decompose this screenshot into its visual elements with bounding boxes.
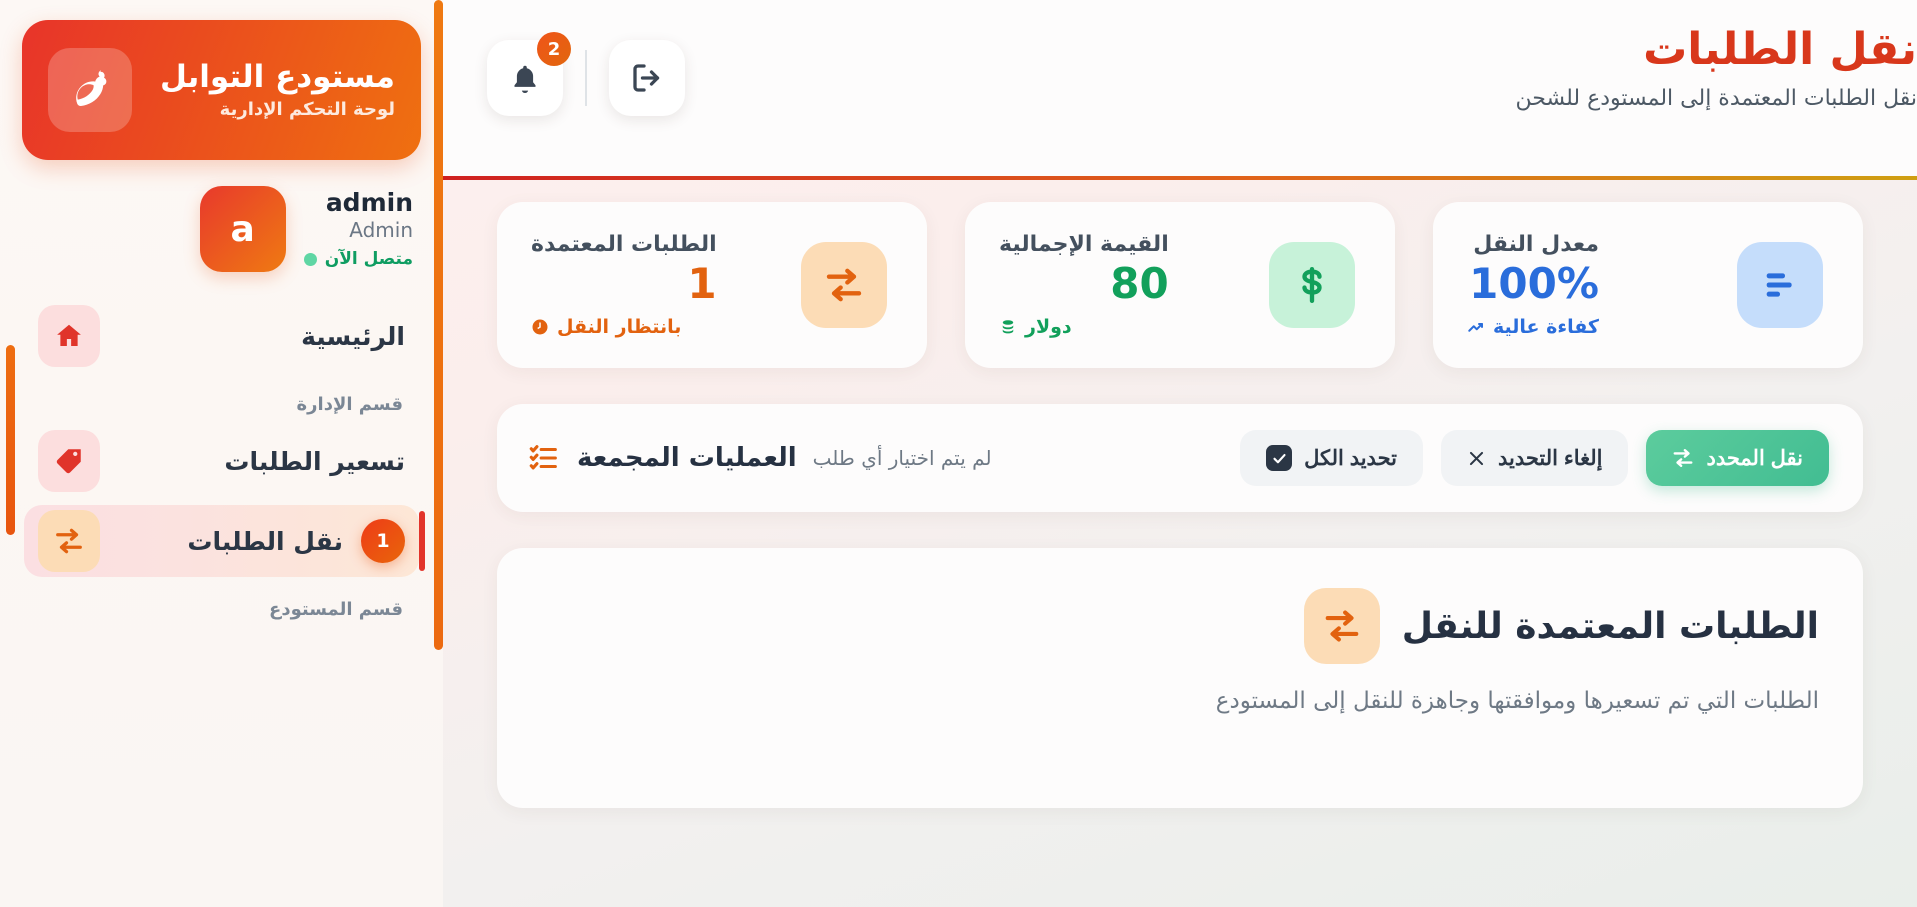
- sidebar-item-label: نقل الطلبات: [118, 527, 343, 556]
- header-divider: [585, 50, 587, 106]
- stat-value: 100%: [1467, 261, 1599, 307]
- transfer-icon: [1304, 588, 1380, 664]
- stat-foot-text: بانتظار النقل: [557, 316, 681, 338]
- profile-role: Admin: [304, 218, 413, 242]
- clock-icon: [531, 318, 549, 336]
- stat-label: معدل النقل: [1467, 232, 1599, 257]
- approved-orders-subtitle: الطلبات التي تم تسعيرها وموافقتها وجاهزة…: [541, 688, 1819, 714]
- checkbox-icon: [1266, 445, 1292, 471]
- page-title: نقل الطلبات: [743, 26, 1917, 74]
- stat-card-transfer-rate: معدل النقل 100% كفاءة عالية: [1433, 202, 1863, 368]
- stat-card-total-value: القيمة الإجمالية 80 دولار: [965, 202, 1395, 368]
- sidebar-item-transfer-orders[interactable]: 1 نقل الطلبات: [24, 505, 419, 577]
- page-subtitle: نقل الطلبات المعتمدة إلى المستودع للشحن: [743, 86, 1917, 111]
- header-actions: 2: [443, 26, 685, 116]
- sidebar-item-badge: 1: [361, 519, 405, 563]
- stats-row: معدل النقل 100% كفاءة عالية القيمة الإجم…: [497, 202, 1863, 368]
- brand-subtitle: لوحة التحكم الإدارية: [150, 99, 395, 120]
- profile-status-text: متصل الآن: [325, 249, 413, 269]
- online-status-dot: [304, 253, 317, 266]
- dollar-icon: [1269, 242, 1355, 328]
- sidebar-item-label: الرئيسية: [118, 322, 405, 351]
- stat-card-approved-orders: الطلبات المعتمدة 1 بانتظار النقل: [497, 202, 927, 368]
- transfer-icon: [38, 510, 100, 572]
- app-root: مستودع التوابل لوحة التحكم الإدارية admi…: [0, 0, 1917, 907]
- bulk-title: العمليات المجمعة: [577, 443, 797, 473]
- avatar[interactable]: a: [200, 186, 286, 272]
- sidebar-item-order-pricing[interactable]: تسعير الطلبات: [24, 425, 419, 497]
- top-header: 2 نقل الطلبات نقل الطلبات المعتمدة إلى ا…: [443, 0, 1917, 180]
- select-all-button[interactable]: تحديد الكل: [1240, 430, 1423, 486]
- stat-label: القيمة الإجمالية: [999, 232, 1169, 257]
- bulk-buttons: نقل المحدد إلغاء التحديد تحديد الكل: [1240, 430, 1829, 486]
- close-icon: [1467, 449, 1486, 468]
- coins-icon: [999, 318, 1017, 336]
- tag-icon: [38, 430, 100, 492]
- sidebar-brand-header: مستودع التوابل لوحة التحكم الإدارية: [22, 20, 421, 160]
- chart-bar-icon: [1737, 242, 1823, 328]
- notifications-button[interactable]: 2: [487, 40, 563, 116]
- bulk-actions-toolbar: نقل المحدد إلغاء التحديد تحديد الكل: [497, 404, 1863, 512]
- page-content: معدل النقل 100% كفاءة عالية القيمة الإجم…: [443, 180, 1917, 808]
- stat-foot-text: كفاءة عالية: [1493, 316, 1599, 338]
- sidebar-nav: الرئيسية قسم الإدارة تسعير الطلبات 1 نقل…: [22, 292, 421, 630]
- clear-selection-label: إلغاء التحديد: [1498, 446, 1603, 471]
- approved-orders-title: الطلبات المعتمدة للنقل: [1402, 606, 1819, 647]
- stat-value: 80: [999, 261, 1169, 307]
- trend-up-icon: [1467, 318, 1485, 336]
- user-profile[interactable]: admin Admin متصل الآن a: [22, 160, 421, 292]
- transfer-icon: [801, 242, 887, 328]
- transfer-icon: [1672, 447, 1694, 469]
- bulk-selection-note: لم يتم اختيار أي طلب: [813, 446, 992, 470]
- approved-orders-header: الطلبات المعتمدة للنقل: [541, 588, 1819, 664]
- sidebar-scrollbar[interactable]: [6, 345, 15, 535]
- bulk-title-block: لم يتم اختيار أي طلب العمليات المجمعة: [527, 441, 992, 475]
- clear-selection-button[interactable]: إلغاء التحديد: [1441, 430, 1629, 486]
- transfer-selected-label: نقل المحدد: [1706, 446, 1803, 471]
- stat-value: 1: [531, 261, 717, 307]
- notifications-badge: 2: [537, 32, 571, 66]
- logout-button[interactable]: [609, 40, 685, 116]
- profile-name: admin: [304, 189, 413, 217]
- sidebar-item-label: تسعير الطلبات: [118, 447, 405, 476]
- transfer-selected-button[interactable]: نقل المحدد: [1646, 430, 1829, 486]
- main-area: 2 نقل الطلبات نقل الطلبات المعتمدة إلى ا…: [443, 0, 1917, 907]
- sidebar-section-admin: قسم الإدارة: [24, 380, 419, 425]
- brand-title: مستودع التوابل: [150, 60, 395, 96]
- home-icon: [38, 305, 100, 367]
- sidebar: مستودع التوابل لوحة التحكم الإدارية admi…: [0, 0, 443, 907]
- page-title-block: نقل الطلبات نقل الطلبات المعتمدة إلى الم…: [685, 26, 1917, 111]
- checklist-icon: [527, 441, 561, 475]
- stat-label: الطلبات المعتمدة: [531, 232, 717, 257]
- chili-pepper-icon: [48, 48, 132, 132]
- stat-foot-text: دولار: [1025, 316, 1072, 338]
- sidebar-accent-bar: [434, 0, 443, 650]
- select-all-label: تحديد الكل: [1304, 446, 1397, 471]
- sidebar-item-home[interactable]: الرئيسية: [24, 300, 419, 372]
- approved-orders-panel: الطلبات المعتمدة للنقل الطلبات التي تم ت…: [497, 548, 1863, 808]
- sidebar-section-warehouse: قسم المستودع: [24, 585, 419, 630]
